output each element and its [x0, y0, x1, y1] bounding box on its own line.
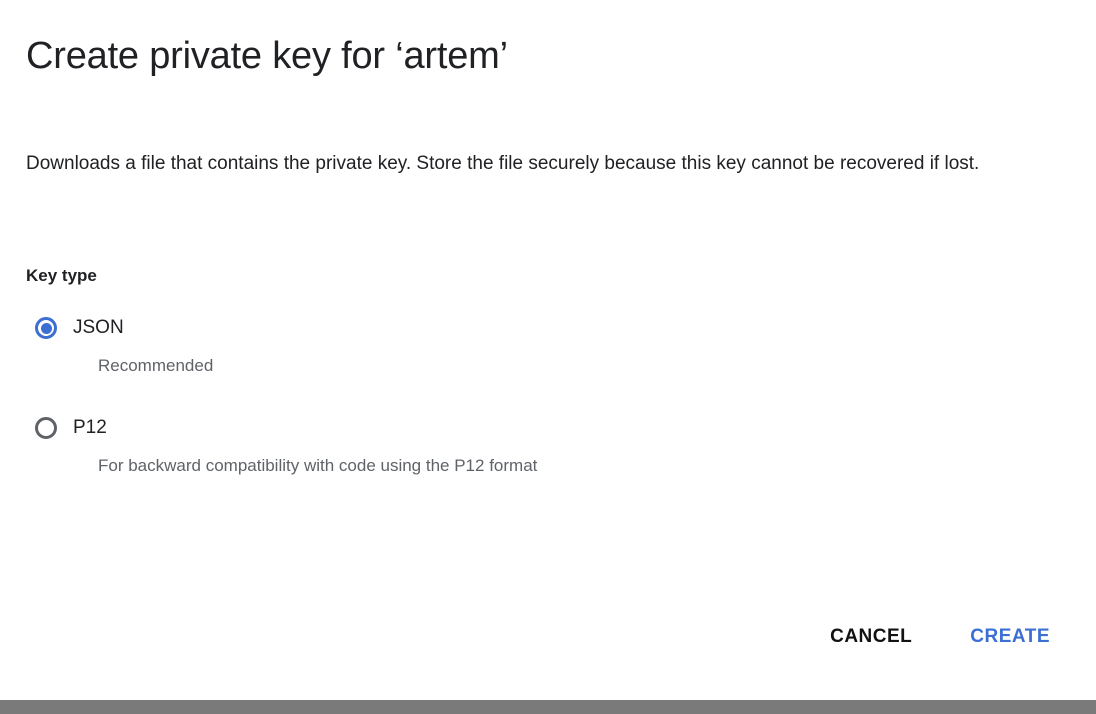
bottom-bar	[0, 700, 1096, 714]
radio-option-json[interactable]: JSON Recommended	[26, 308, 1026, 378]
create-button[interactable]: CREATE	[962, 620, 1058, 654]
radio-circle-outline	[35, 417, 57, 439]
radio-label-json: JSON	[73, 316, 124, 340]
create-private-key-dialog: Create private key for ‘artem’ Downloads…	[0, 0, 1096, 700]
radio-unselected-icon[interactable]	[26, 408, 66, 448]
radio-sublabel-json: Recommended	[98, 354, 1026, 378]
radio-option-p12[interactable]: P12 For backward compatibility with code…	[26, 408, 1026, 478]
key-type-radio-group: JSON Recommended P12 For backward compat…	[26, 308, 1026, 478]
dialog-description: Downloads a file that contains the priva…	[26, 144, 1018, 184]
radio-selected-icon[interactable]	[26, 308, 66, 348]
radio-row-p12[interactable]: P12	[26, 408, 1026, 448]
radio-row-json[interactable]: JSON	[26, 308, 1026, 348]
dialog-action-bar: CANCEL CREATE	[822, 620, 1058, 654]
radio-inner-dot	[41, 323, 52, 334]
option-spacer	[26, 378, 1026, 408]
radio-label-p12: P12	[73, 416, 107, 440]
key-type-label: Key type	[26, 264, 97, 288]
dialog-title: Create private key for ‘artem’	[26, 31, 508, 81]
radio-sublabel-p12: For backward compatibility with code usi…	[98, 454, 1026, 478]
cancel-button[interactable]: CANCEL	[822, 620, 920, 654]
